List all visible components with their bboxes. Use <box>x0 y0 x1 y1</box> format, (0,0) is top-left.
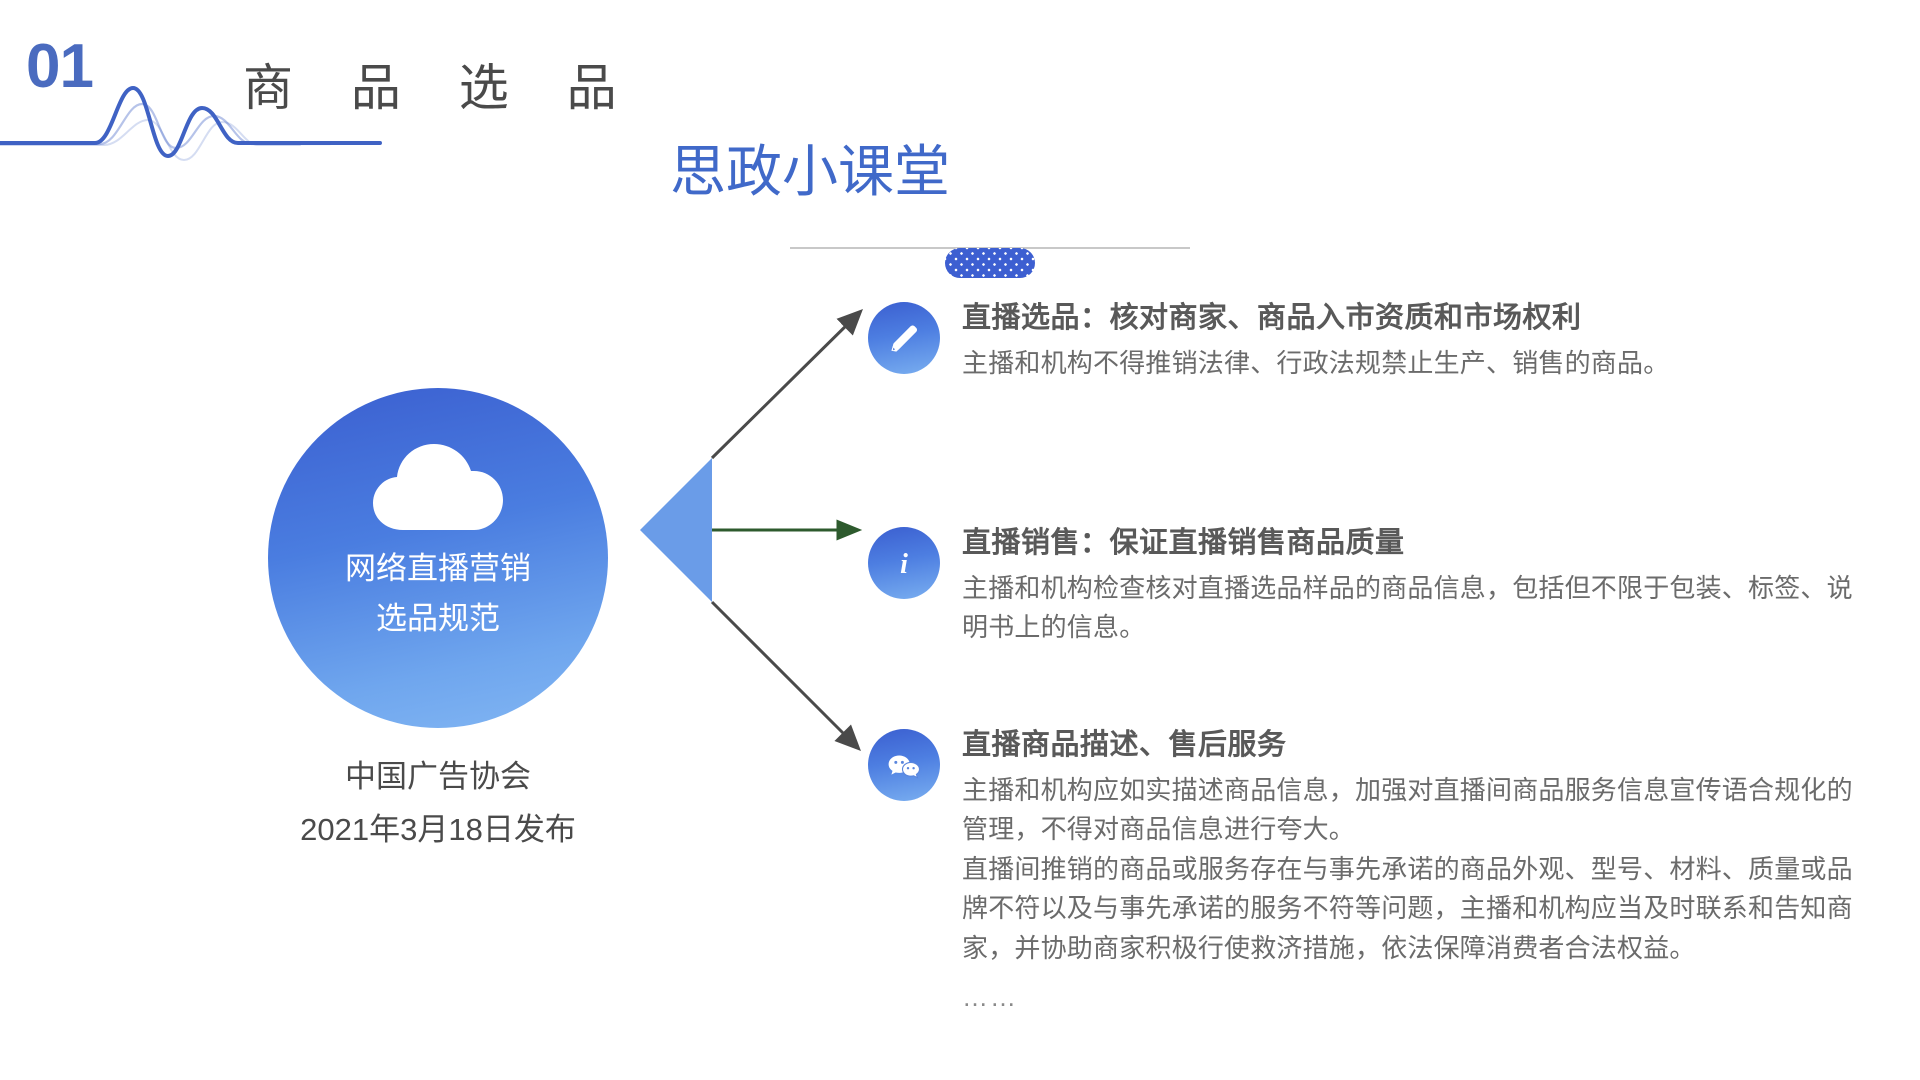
info-icon: i <box>868 527 940 599</box>
pencil-icon <box>868 302 940 374</box>
brand-line-1: 网络直播营销 <box>345 544 531 594</box>
info-block: 直播商品描述、售后服务 主播和机构应如实描述商品信息，加强对直播间商品服务信息宣… <box>868 727 1868 1017</box>
brand-line-2: 选品规范 <box>345 594 531 644</box>
info-heading: 直播选品：核对商家、商品入市资质和市场权利 <box>962 300 1868 338</box>
page-title: 商 品 选 品 <box>243 58 639 118</box>
brand-circle-text: 网络直播营销 选品规范 <box>345 544 531 644</box>
chat-bubbles-icon <box>868 729 940 801</box>
dotted-pill-icon <box>945 248 1035 278</box>
brand-circle: 网络直播营销 选品规范 <box>268 388 608 728</box>
info-body: 直播销售：保证直播销售商品质量 主播和机构检查核对直播选品样品的商品信息，包括但… <box>962 525 1868 648</box>
brand-caption: 中国广告协会 2021年3月18日发布 <box>248 750 628 857</box>
section-title: 思政小课堂 <box>0 140 1620 204</box>
info-body: 直播商品描述、售后服务 主播和机构应如实描述商品信息，加强对直播间商品服务信息宣… <box>962 727 1868 1017</box>
left-triangle-icon <box>640 458 712 602</box>
info-paragraph: 主播和机构应如实描述商品信息，加强对直播间商品服务信息宣传语合规化的管理，不得对… <box>962 771 1868 850</box>
header-number: 01 <box>26 36 93 98</box>
info-ellipsis: …… <box>962 978 1868 1017</box>
info-block: i 直播销售：保证直播销售商品质量 主播和机构检查核对直播选品样品的商品信息，包… <box>868 525 1868 648</box>
arrow-down-right-icon <box>712 602 858 748</box>
info-paragraph: 直播间推销的商品或服务存在与事先承诺的商品外观、型号、材料、质量或品牌不符以及与… <box>962 850 1868 969</box>
info-body: 直播选品：核对商家、商品入市资质和市场权利 主播和机构不得推销法律、行政法规禁止… <box>962 300 1868 383</box>
brand-caption-line-2: 2021年3月18日发布 <box>248 803 628 856</box>
info-block: 直播选品：核对商家、商品入市资质和市场权利 主播和机构不得推销法律、行政法规禁止… <box>868 300 1868 383</box>
info-heading: 直播商品描述、售后服务 <box>962 727 1868 765</box>
info-heading: 直播销售：保证直播销售商品质量 <box>962 525 1868 563</box>
info-paragraph: 主播和机构检查核对直播选品样品的商品信息，包括但不限于包装、标签、说明书上的信息… <box>962 569 1868 648</box>
svg-text:i: i <box>900 549 908 580</box>
brand-caption-line-1: 中国广告协会 <box>248 750 628 803</box>
cloud-icon <box>363 438 513 538</box>
arrow-up-right-icon <box>712 312 860 458</box>
info-paragraph: 主播和机构不得推销法律、行政法规禁止生产、销售的商品。 <box>962 344 1868 384</box>
